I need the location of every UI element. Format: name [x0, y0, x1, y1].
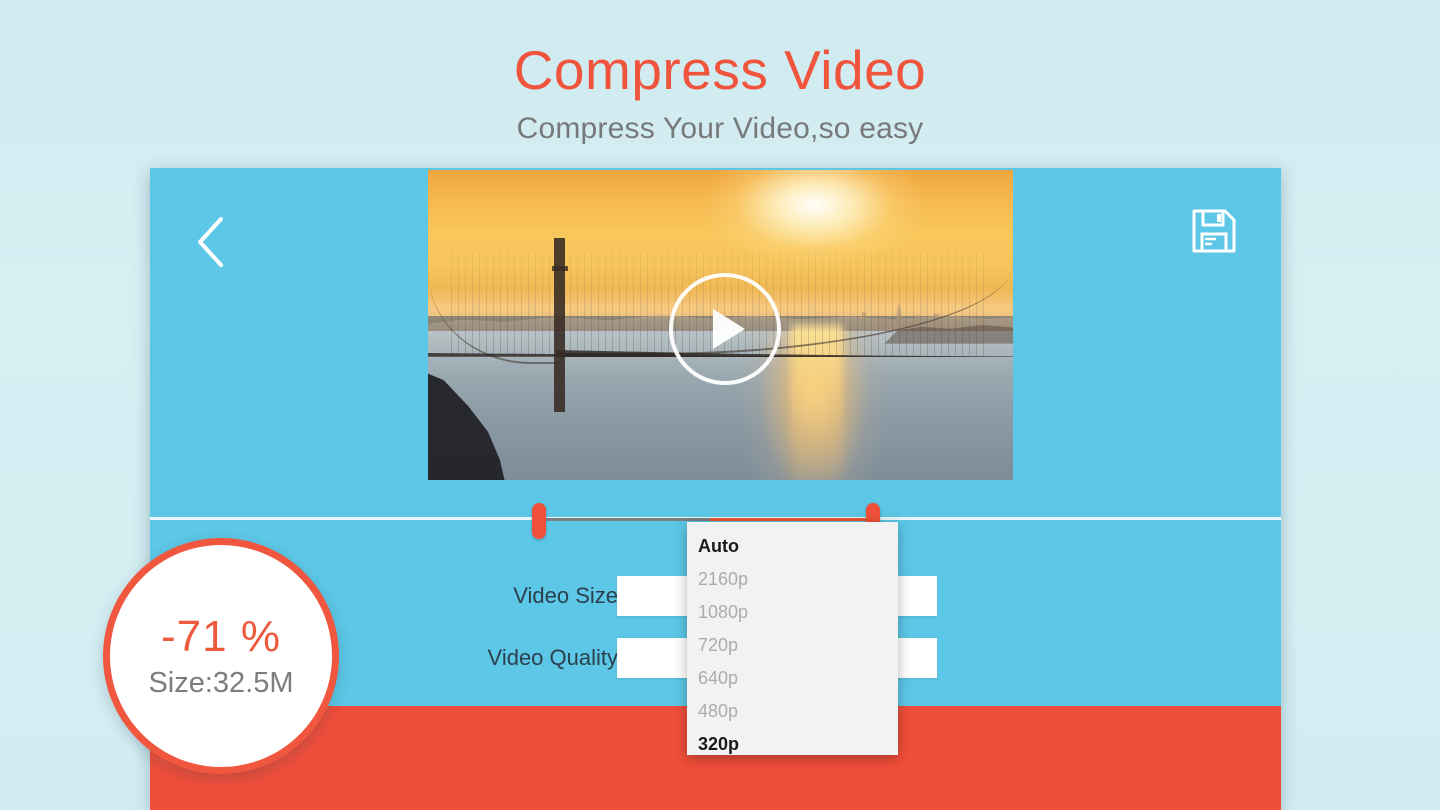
- video-size-label: Video Size: [513, 583, 618, 609]
- compressed-size: Size:32.5M: [148, 669, 293, 698]
- chevron-left-icon: [195, 216, 225, 268]
- save-button[interactable]: [1183, 200, 1245, 262]
- play-button[interactable]: [669, 273, 781, 385]
- video-quality-label: Video Quality: [488, 645, 618, 671]
- quality-dropdown-menu[interactable]: Auto2160p1080p720p640p480p320p: [687, 522, 898, 755]
- compression-percent: -71 %: [161, 615, 281, 659]
- back-button[interactable]: [178, 210, 242, 274]
- floppy-disk-save-icon: [1191, 208, 1237, 254]
- dropdown-item[interactable]: 1080p: [687, 596, 898, 629]
- dropdown-item[interactable]: 320p: [687, 728, 898, 761]
- page-title: Compress Video: [0, 0, 1440, 100]
- compression-result-badge: -71 % Size:32.5M: [103, 538, 339, 774]
- page-subtitle: Compress Your Video,so easy: [0, 100, 1440, 146]
- play-icon: [713, 309, 745, 349]
- dropdown-item[interactable]: Auto: [687, 530, 898, 563]
- trim-start-handle[interactable]: [532, 503, 546, 539]
- page-header: Compress Video Compress Your Video,so ea…: [0, 0, 1440, 146]
- video-preview-thumbnail[interactable]: [428, 170, 1013, 480]
- dropdown-item[interactable]: 640p: [687, 662, 898, 695]
- dropdown-item[interactable]: 720p: [687, 629, 898, 662]
- trim-track-selected-range[interactable]: [710, 518, 872, 521]
- bridge-tower-crossbeam: [552, 266, 568, 271]
- dropdown-item[interactable]: 2160p: [687, 563, 898, 596]
- dropdown-item[interactable]: 480p: [687, 695, 898, 728]
- bridge-tower: [554, 238, 565, 412]
